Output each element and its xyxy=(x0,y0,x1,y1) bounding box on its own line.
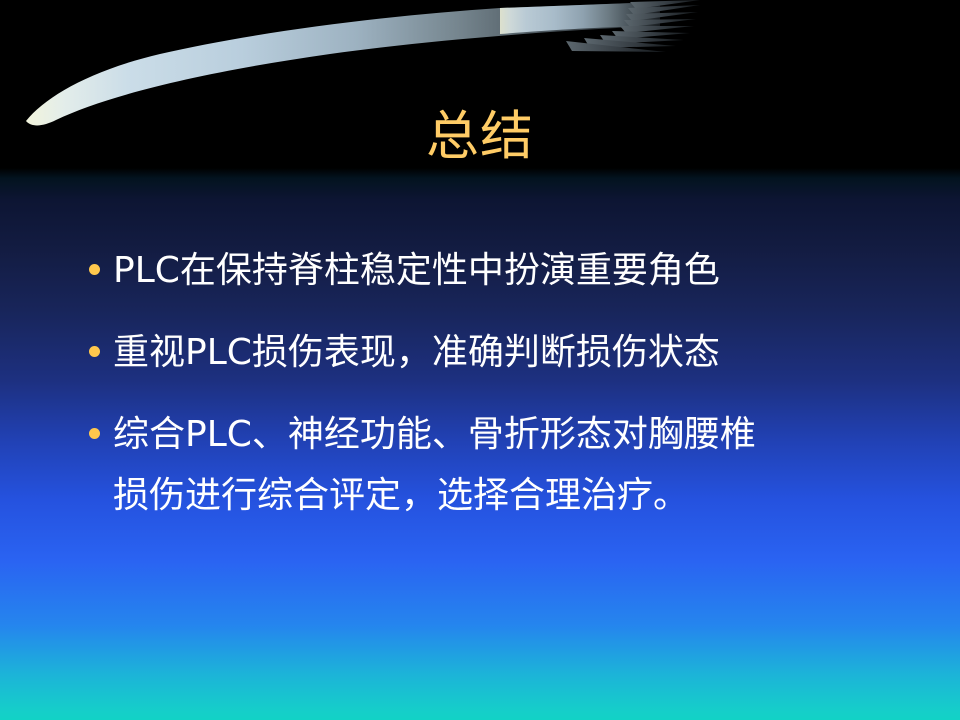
bullet-marker-icon xyxy=(89,428,100,439)
bullet-marker-icon xyxy=(89,264,100,275)
list-item-label: 综合PLC、神经功能、骨折形态对胸腰椎 xyxy=(113,404,902,465)
list-item: PLC在保持脊柱稳定性中扮演重要角色 xyxy=(82,240,902,301)
list-item-label: PLC在保持脊柱稳定性中扮演重要角色 xyxy=(113,240,902,301)
list-item: 综合PLC、神经功能、骨折形态对胸腰椎 损伤进行综合评定，选择合理治疗。 xyxy=(82,404,902,526)
slide-title: 总结 xyxy=(0,108,960,166)
list-item-label-continued: 损伤进行综合评定，选择合理治疗。 xyxy=(113,475,689,516)
bullet-marker-icon xyxy=(89,346,100,357)
list-item: 重视PLC损伤表现，准确判断损伤状态 xyxy=(82,322,902,383)
bullet-list: PLC在保持脊柱稳定性中扮演重要角色 重视PLC损伤表现，准确判断损伤状态 综合… xyxy=(82,240,902,526)
presentation-slide: 总结 PLC在保持脊柱稳定性中扮演重要角色 重视PLC损伤表现，准确判断损伤状态… xyxy=(0,0,960,720)
list-item-label: 重视PLC损伤表现，准确判断损伤状态 xyxy=(113,322,902,383)
